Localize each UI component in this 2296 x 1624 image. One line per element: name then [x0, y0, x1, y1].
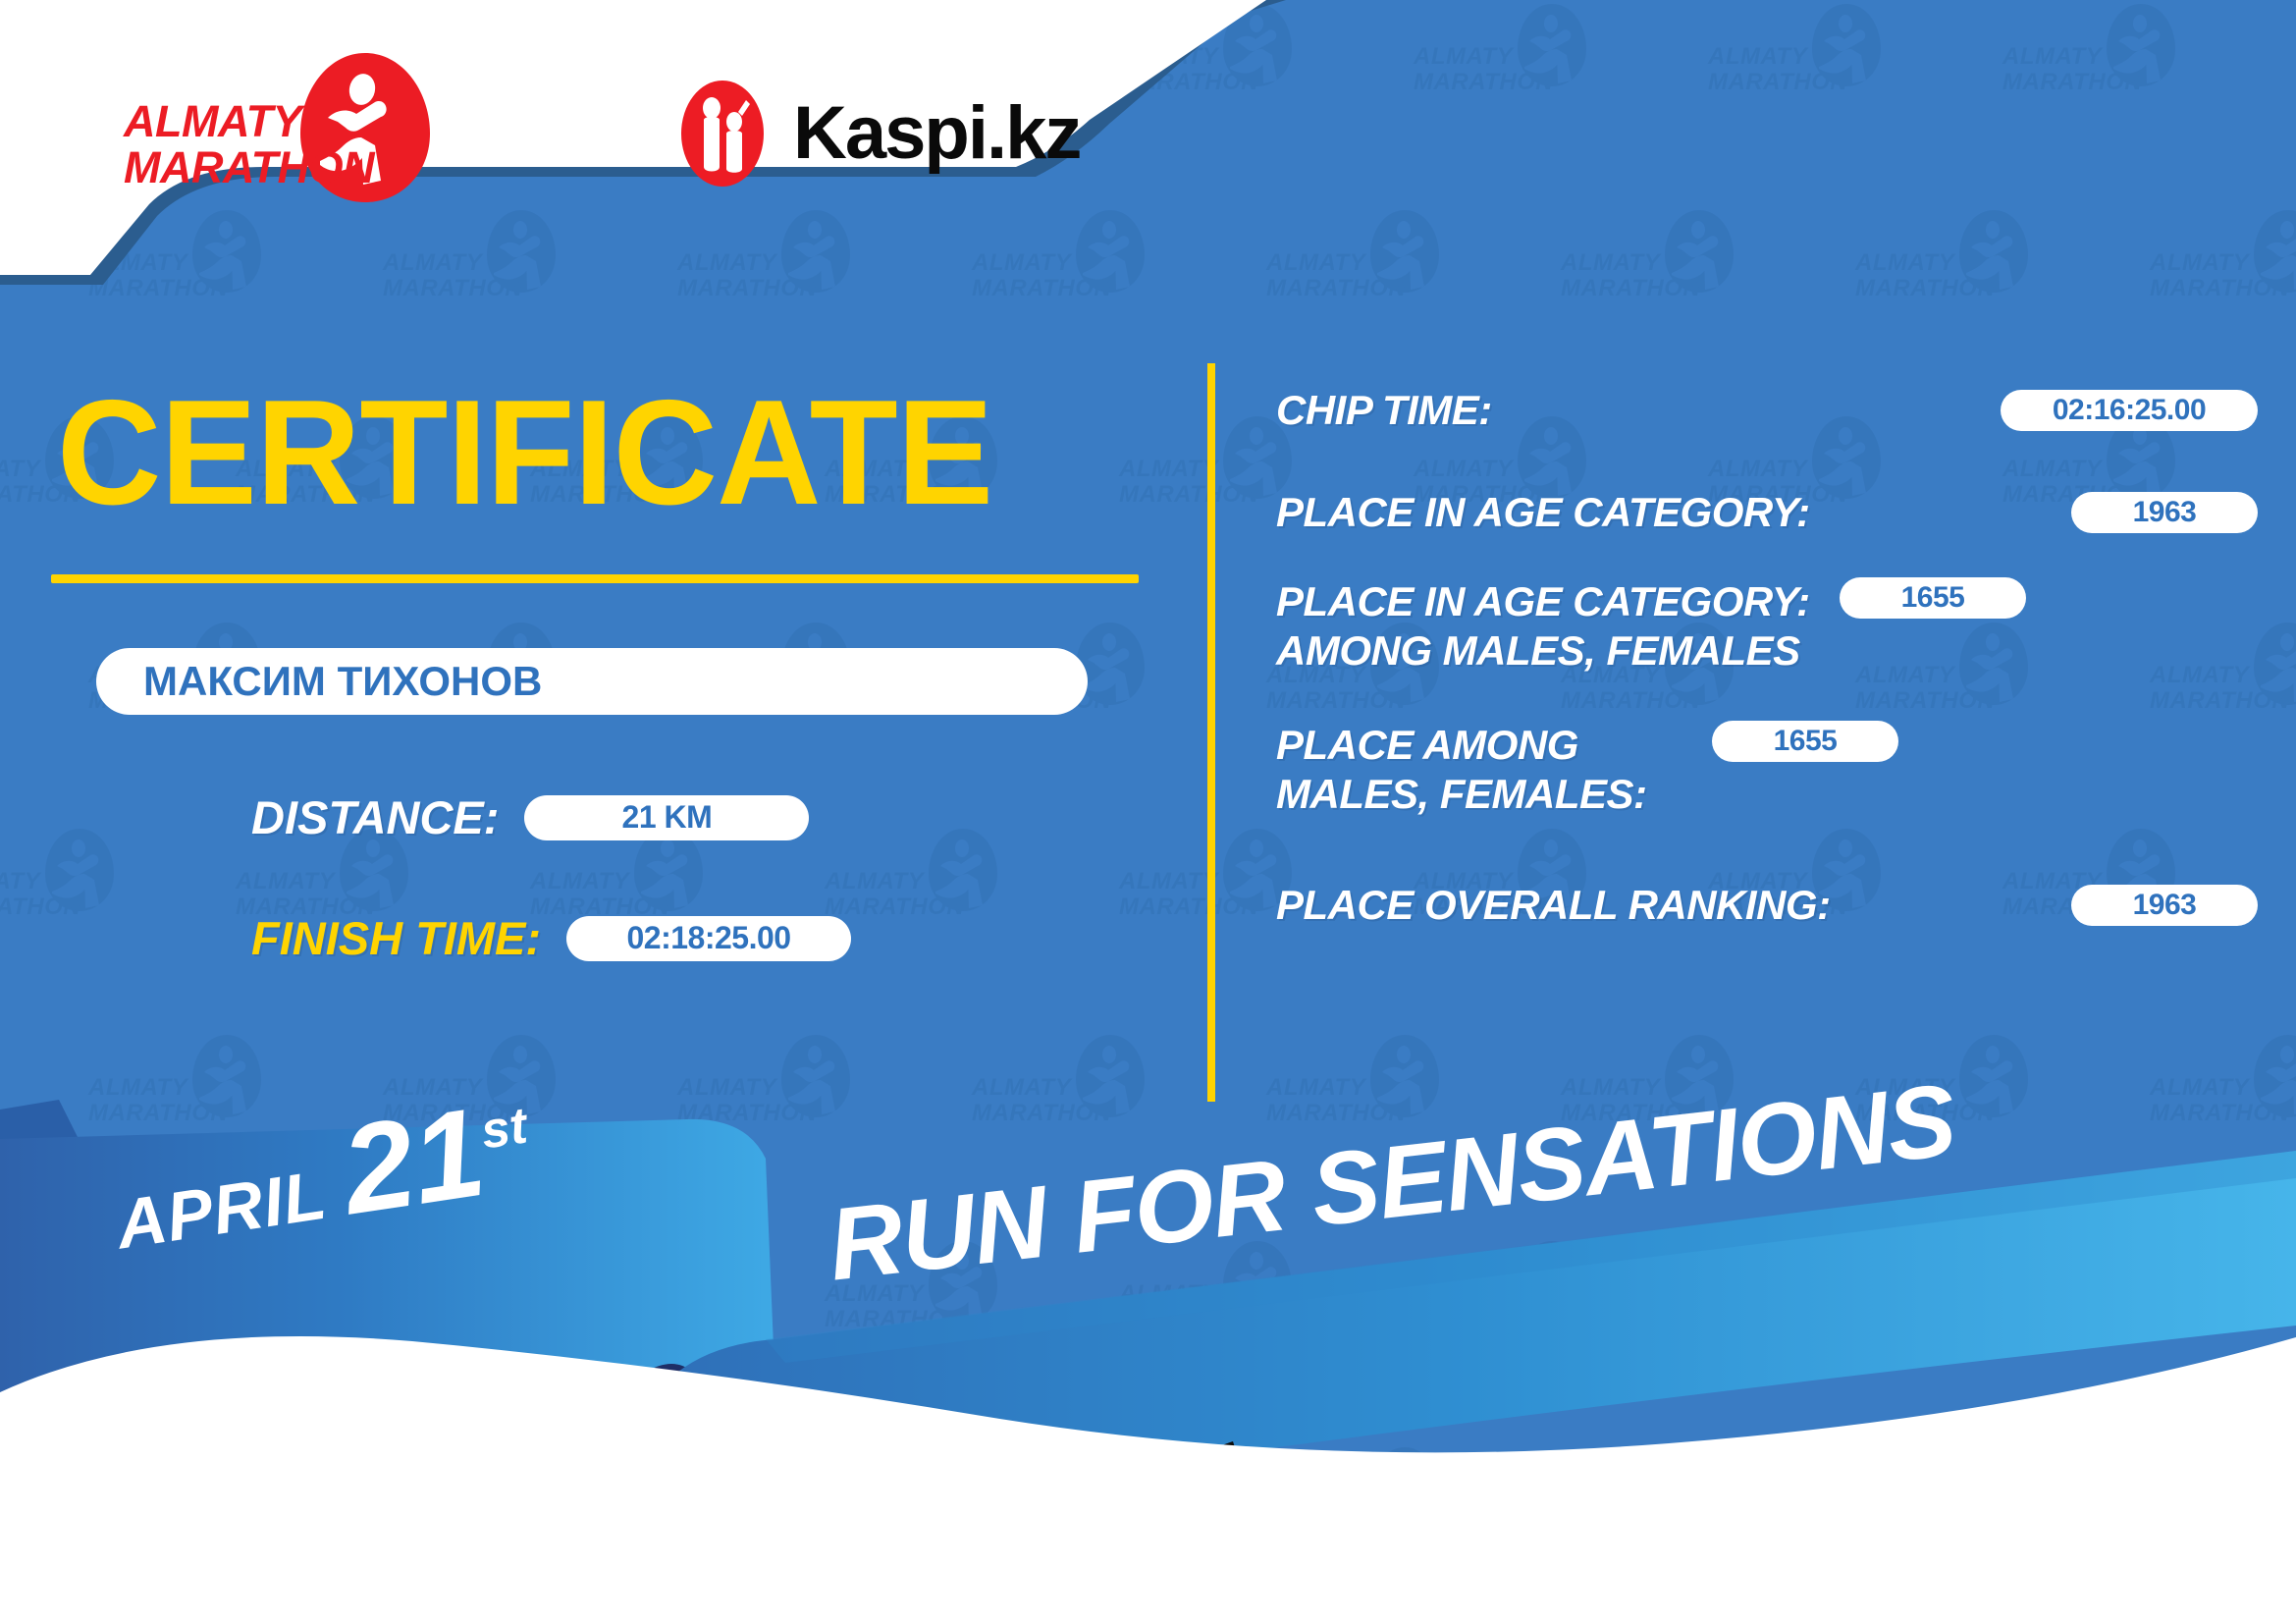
watermark-tile: ALMATYMARATHON — [2150, 206, 2296, 314]
watermark-line1: ALMATY — [1855, 249, 1954, 277]
watermark-line1: ALMATY — [0, 868, 40, 895]
place-age-category-gender-label: PLACE IN AGE CATEGORY: AMONG MALES, FEMA… — [1276, 577, 1826, 676]
watermark-line1: ALMATY — [1119, 868, 1218, 895]
watermark-tile: ALMATYMARATHON — [1561, 206, 1757, 314]
place-age-category-value-pill: 1963 — [2071, 492, 2258, 533]
kaspi-wordmark: Kaspi.kz — [793, 96, 1080, 171]
result-row-place-among-gender: PLACE AMONG MALES, FEMALES: 1655 — [1276, 715, 2258, 850]
chip-time-label: CHIP TIME: — [1276, 386, 1987, 435]
almaty-marathon-logo: ALMATY MARATHON — [118, 47, 442, 229]
watermark-line1: ALMATY — [1119, 456, 1218, 483]
watermark-tile: ALMATYMARATHON — [825, 825, 1021, 933]
watermark-line2: MARATHON — [1119, 893, 1258, 921]
watermark-line1: ALMATY — [236, 868, 335, 895]
watermark-tile: ALMATYMARATHON — [0, 825, 137, 933]
result-row-place-overall: PLACE OVERALL RANKING: 1963 — [1276, 858, 2258, 952]
watermark-line1: ALMATY — [88, 1074, 187, 1102]
place-age-category-value: 1963 — [2133, 496, 2197, 529]
event-day-ordinal: st — [477, 1096, 531, 1161]
watermark-line1: ALMATY — [2150, 1074, 2249, 1102]
almaty-logo-line2: MARATHON — [124, 144, 374, 190]
header: ALMATY MARATHON Kaspi.kz — [0, 0, 1472, 295]
watermark-line1: ALMATY — [530, 868, 629, 895]
finish-time-value: 02:18:25.00 — [627, 920, 791, 956]
certificate-page: ALMATYMARATHONALMATYMARATHONALMATYMARATH… — [0, 0, 2296, 1624]
watermark-line1: ALMATY — [1266, 1074, 1365, 1102]
watermark-line1: ALMATY — [972, 1074, 1071, 1102]
bottom-wave — [0, 1276, 2296, 1624]
watermark-line1: ALMATY — [2150, 249, 2249, 277]
watermark-line1: ALMATY — [2002, 43, 2102, 71]
chip-time-value-pill: 02:16:25.00 — [2001, 390, 2258, 431]
event-day: 21 — [335, 1090, 492, 1235]
watermark-line2: MARATHON — [0, 893, 80, 921]
almaty-marathon-wordmark: ALMATY MARATHON — [124, 98, 374, 190]
chip-time-value: 02:16:25.00 — [2053, 394, 2206, 427]
distance-row: DISTANCE: 21 KM — [251, 790, 809, 844]
watermark-line2: MARATHON — [2002, 69, 2142, 96]
place-overall-label: PLACE OVERALL RANKING: — [1276, 881, 2057, 930]
result-row-place-age-category-gender: PLACE IN AGE CATEGORY: AMONG MALES, FEMA… — [1276, 568, 2258, 707]
result-row-place-age-category: PLACE IN AGE CATEGORY: 1963 — [1276, 465, 2258, 560]
watermark-line1: ALMATY — [825, 868, 924, 895]
place-among-gender-label: PLACE AMONG MALES, FEMALES: — [1276, 721, 1698, 819]
watermark-line2: MARATHON — [1855, 275, 1995, 302]
logo-row: ALMATY MARATHON Kaspi.kz — [0, 0, 1178, 285]
place-age-category-gender-value: 1655 — [1901, 581, 1965, 615]
place-overall-value: 1963 — [2133, 889, 2197, 922]
watermark-line2: MARATHON — [1561, 275, 1700, 302]
event-month: APRIL — [111, 1156, 331, 1265]
results-panel: CHIP TIME: 02:16:25.00 PLACE IN AGE CATE… — [1276, 363, 2258, 960]
watermark-line1: ALMATY — [0, 456, 40, 483]
watermark-line1: ALMATY — [1561, 249, 1660, 277]
finish-time-value-pill: 02:18:25.00 — [566, 916, 851, 961]
finish-time-label: FINISH TIME: — [251, 911, 541, 965]
place-among-gender-value-pill: 1655 — [1712, 721, 1898, 762]
finish-time-row: FINISH TIME: 02:18:25.00 — [251, 911, 851, 965]
page-title: CERTIFICATE — [57, 378, 992, 527]
participant-name: МАКСИМ ТИХОНОВ — [96, 658, 542, 705]
distance-label: DISTANCE: — [251, 790, 499, 844]
watermark-tile: ALMATYMARATHON — [2002, 0, 2199, 108]
distance-value: 21 KM — [622, 799, 713, 836]
result-row-chip-time: CHIP TIME: 02:16:25.00 — [1276, 363, 2258, 458]
almaty-logo-line1: ALMATY — [124, 98, 374, 144]
watermark-tile: ALMATYMARATHON — [1708, 0, 1904, 108]
place-overall-value-pill: 1963 — [2071, 885, 2258, 926]
kaspi-logo: Kaspi.kz — [677, 79, 1080, 189]
watermark-tile: ALMATYMARATHON — [1855, 206, 2052, 314]
column-divider — [1207, 363, 1215, 1102]
place-age-category-label: PLACE IN AGE CATEGORY: — [1276, 488, 2057, 537]
watermark-line2: MARATHON — [1119, 481, 1258, 509]
kaspi-people-icon — [677, 79, 768, 189]
distance-value-pill: 21 KM — [524, 795, 809, 840]
participant-name-field: МАКСИМ ТИХОНОВ — [96, 648, 1088, 715]
place-age-category-gender-value-pill: 1655 — [1840, 577, 2026, 619]
title-divider — [51, 574, 1139, 583]
watermark-line1: ALMATY — [1708, 43, 1807, 71]
watermark-line2: MARATHON — [1708, 69, 1847, 96]
watermark-line2: MARATHON — [2150, 275, 2289, 302]
place-among-gender-value: 1655 — [1774, 725, 1838, 758]
